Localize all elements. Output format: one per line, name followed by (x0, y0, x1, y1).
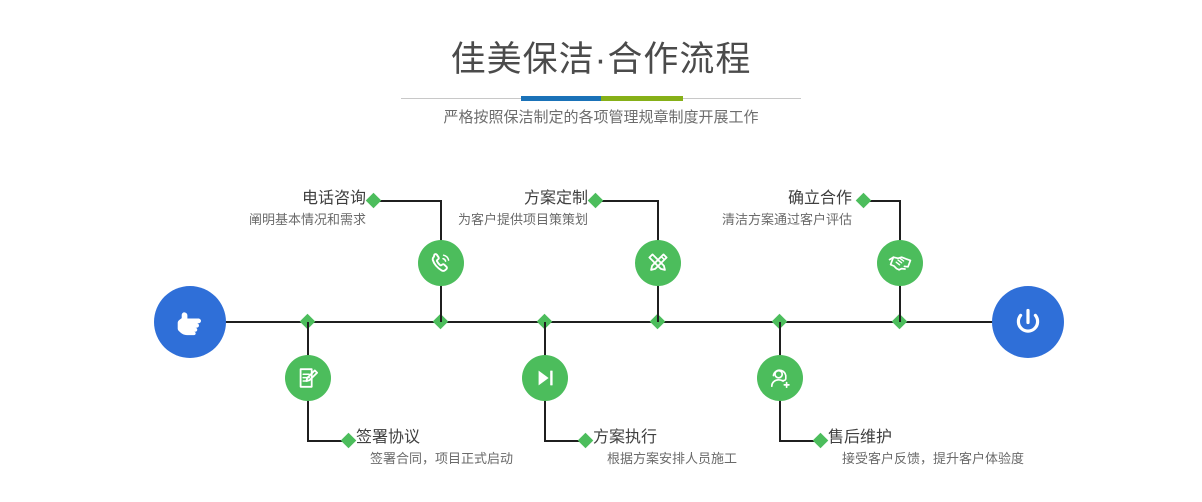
customer-support-icon (767, 365, 793, 391)
process-flow-infographic: 佳美保洁·合作流程 严格按照保洁制定的各项管理规章制度开展工作 (0, 0, 1202, 502)
step-title-6: 售后维护 (828, 427, 1168, 449)
step-node-4[interactable] (522, 355, 568, 401)
step-node-6[interactable] (757, 355, 803, 401)
label-marker-5 (856, 193, 872, 209)
handshake-icon (887, 250, 913, 276)
step-node-3[interactable] (635, 240, 681, 286)
flow-end-node[interactable] (992, 286, 1064, 358)
step-node-2[interactable] (285, 355, 331, 401)
flow-diagram: 电话咨询 阐明基本情况和需求 签署协议 签署合同，项目正式启动 (0, 0, 1202, 502)
design-pencil-icon (645, 250, 671, 276)
step-label-6: 售后维护 接受客户反馈，提升客户体验度 (828, 427, 1168, 469)
step-title-3: 方案定制 (288, 188, 588, 210)
pointing-hand-icon (170, 302, 210, 342)
step-label-5: 确立合作 清洁方案通过客户评估 (552, 188, 852, 230)
step-desc-3: 为客户提供项目策策划 (288, 210, 588, 230)
flow-start-node[interactable] (154, 286, 226, 358)
phone-call-icon (428, 250, 454, 276)
step-desc-6: 接受客户反馈，提升客户体验度 (828, 449, 1168, 469)
power-icon (1008, 302, 1048, 342)
step-node-1[interactable] (418, 240, 464, 286)
document-edit-icon (295, 365, 321, 391)
step-label-3: 方案定制 为客户提供项目策策划 (288, 188, 588, 230)
play-skip-icon (532, 365, 558, 391)
step-desc-5: 清洁方案通过客户评估 (552, 210, 852, 230)
step-node-5[interactable] (877, 240, 923, 286)
label-marker-2 (341, 433, 357, 449)
step-title-5: 确立合作 (552, 188, 852, 210)
